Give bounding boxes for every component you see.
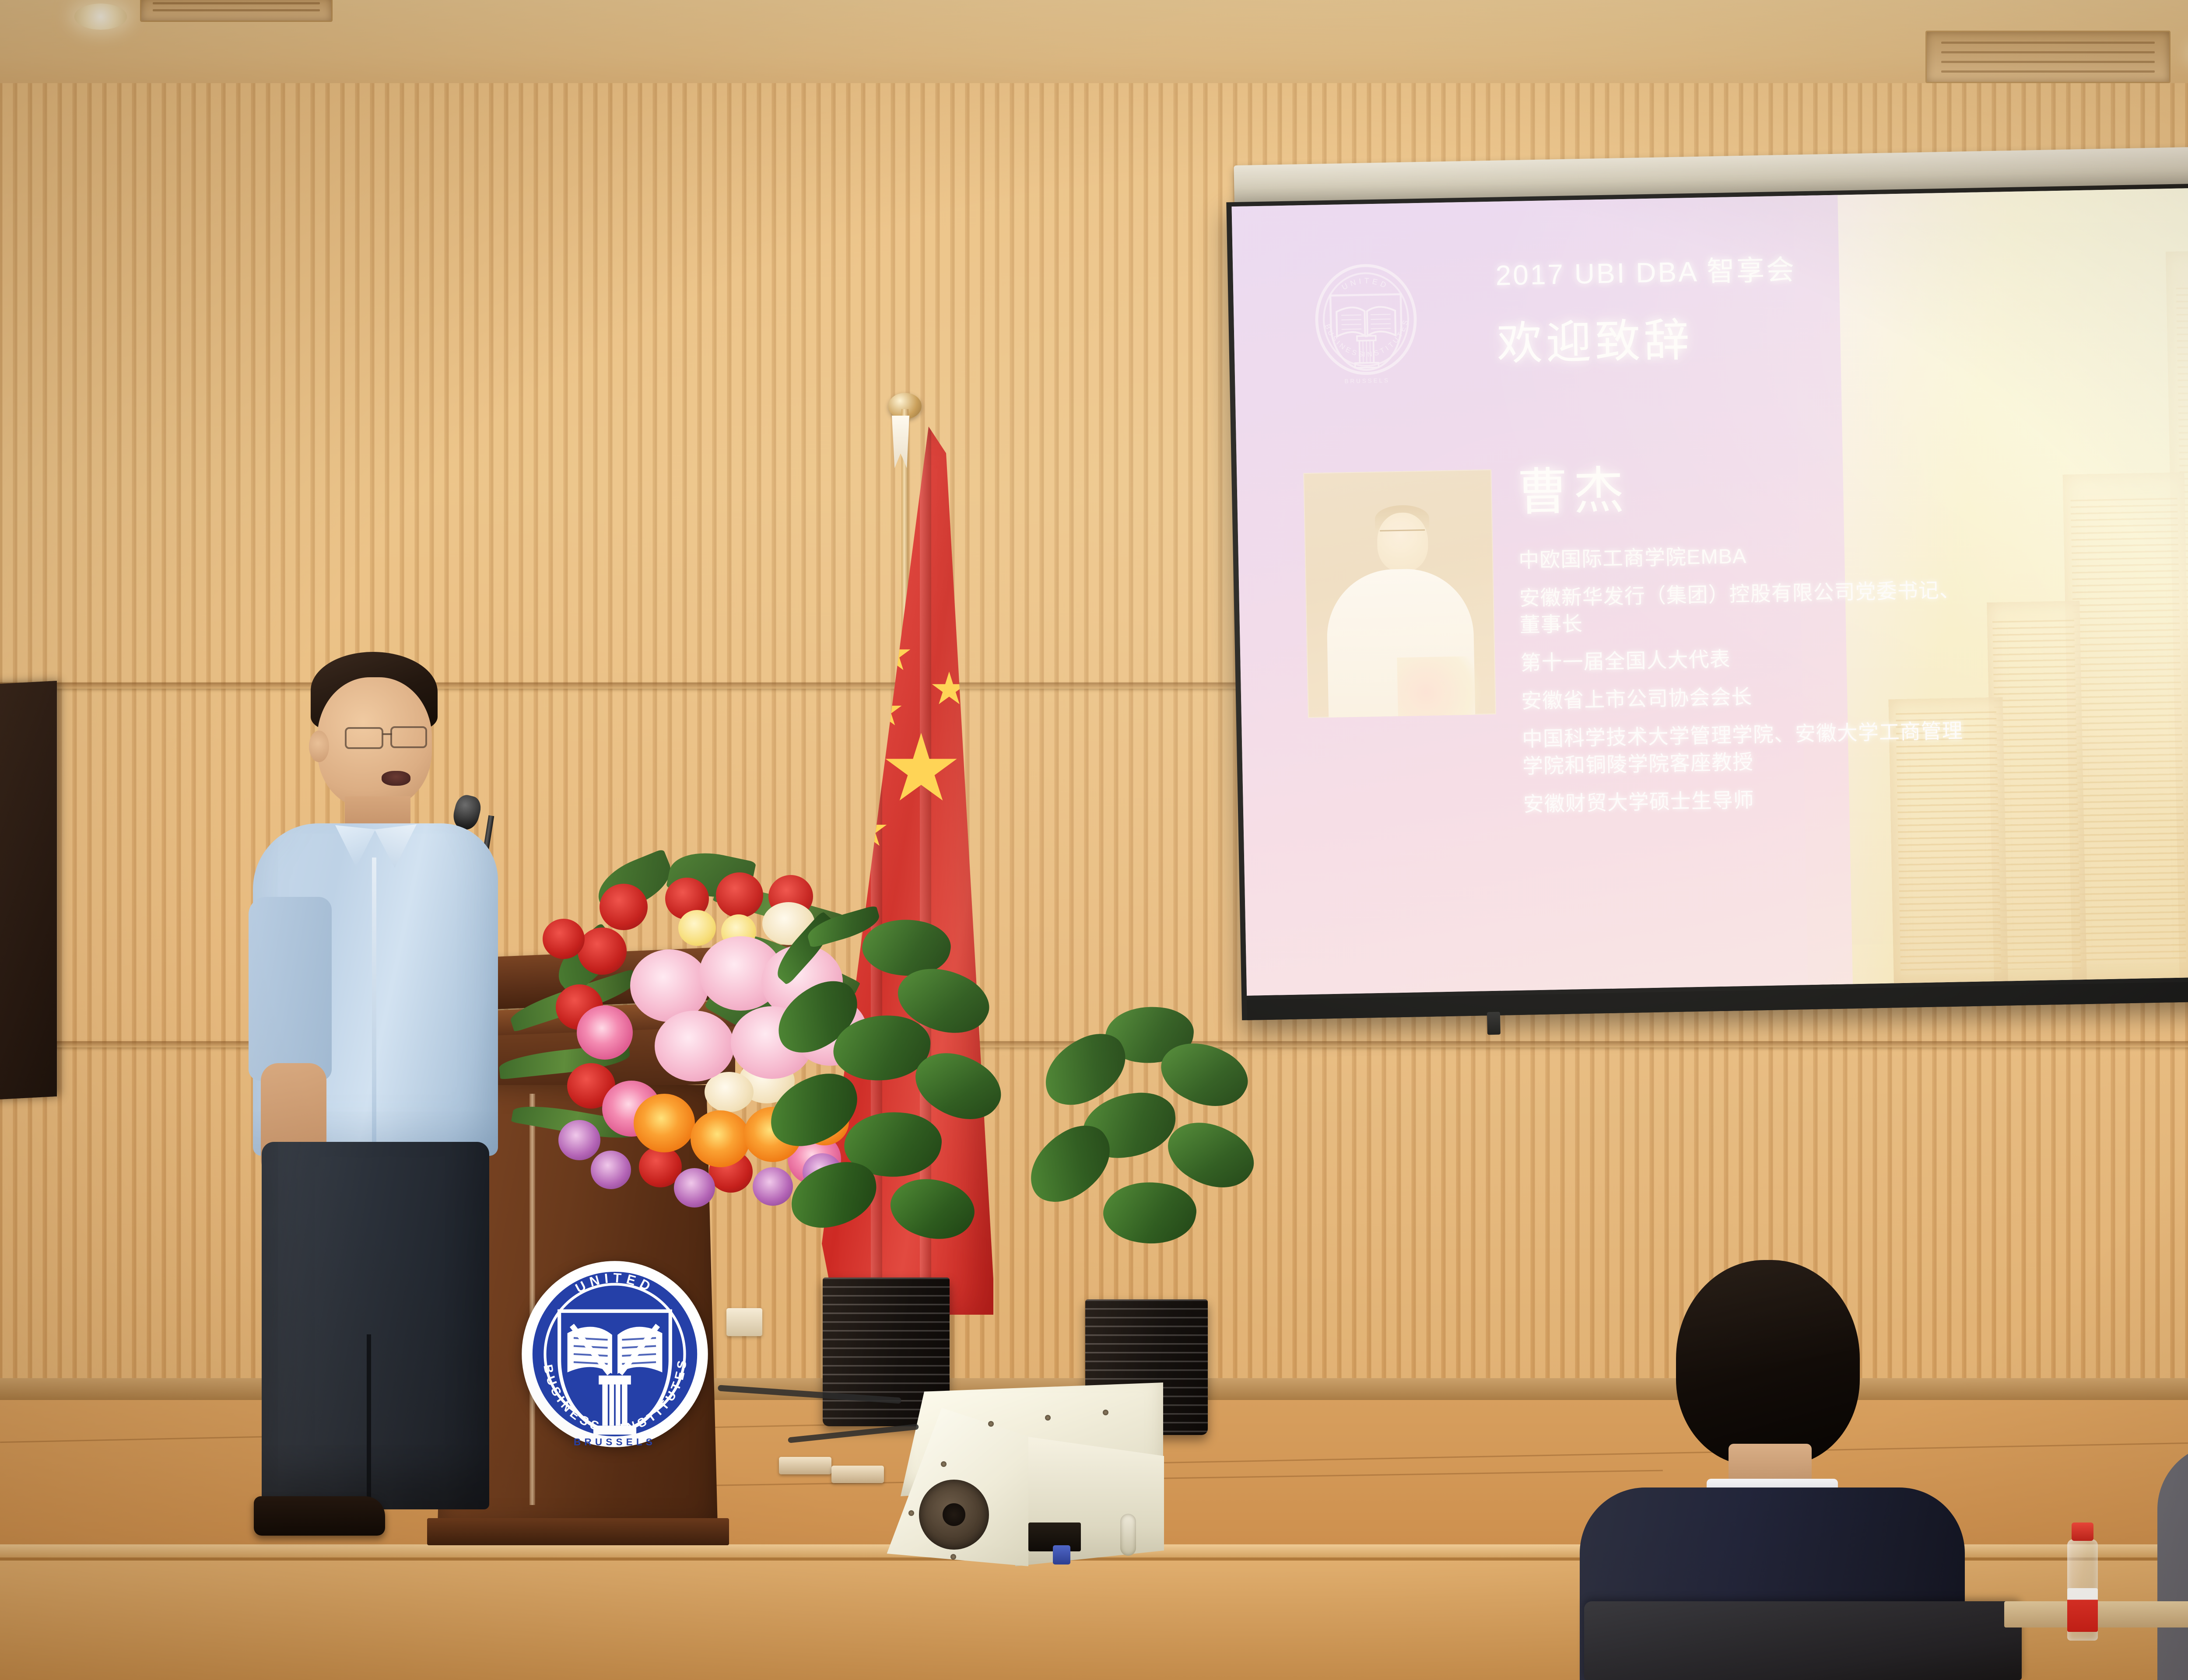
glasses-icon: [345, 727, 383, 749]
speaker-person: [228, 652, 560, 1562]
shirt-placket: [372, 857, 376, 1146]
ceiling-light-left: [74, 3, 127, 30]
bio-line: 中国科学技术大学管理学院、安徽大学工商管理学院和铜陵学院客座教授: [1522, 717, 1969, 780]
ceiling-vent-left: [140, 0, 333, 22]
flower-gerbera-pink: [577, 1005, 633, 1060]
flower-orchid: [558, 1120, 600, 1160]
bio-line: 中欧国际工商学院EMBA: [1518, 538, 1965, 574]
svg-text:BRUSSELS: BRUSSELS: [574, 1437, 656, 1448]
flower-orchid: [591, 1151, 631, 1189]
potted-plant-left: [770, 919, 1006, 1426]
glasses-icon: [390, 726, 427, 748]
wall-dark-panel: [0, 681, 57, 1100]
floor-socket: [779, 1457, 831, 1474]
screen-surface: UNITED BUSINESS INSTITUTES BRUSSELS: [1232, 182, 2188, 996]
ubi-logo-icon: UNITED BUSINESS INSTITUTES BRUSSELS: [1306, 256, 1426, 390]
floor-socket: [831, 1466, 884, 1483]
speaker-mouth: [382, 771, 410, 786]
speaker-shoe: [254, 1496, 385, 1536]
slide-kicker: 2017 UBI DBA 智享会: [1495, 244, 1986, 293]
slide-heading-group: 2017 UBI DBA 智享会 欢迎致辞: [1495, 244, 1988, 372]
audience-chair-left: [1584, 1601, 2022, 1680]
slide-bio-list: 中欧国际工商学院EMBA 安徽新华发行（集团）控股有限公司党委书记、董事长 第十…: [1518, 538, 1970, 829]
monitor-handle[interactable]: [1120, 1514, 1136, 1556]
bio-line: 第十一届全国人大代表: [1520, 641, 1967, 676]
flower-gerbera-orange: [691, 1110, 750, 1167]
slide-content: UNITED BUSINESS INSTITUTES BRUSSELS: [1232, 182, 2188, 996]
flower-gerbera-orange: [634, 1094, 695, 1152]
svg-text:BRUSSELS: BRUSSELS: [1344, 377, 1390, 385]
slide-title: 欢迎致辞: [1496, 297, 1988, 372]
slide-speaker-name: 曹杰: [1516, 449, 1630, 525]
ceiling-vent-right: [1925, 31, 2170, 83]
water-bottle[interactable]: [2065, 1522, 2100, 1641]
bio-line: 安徽新华发行（集团）控股有限公司党委书记、董事长: [1519, 576, 1966, 638]
flower-orchid: [674, 1168, 715, 1207]
flower-rose: [600, 884, 648, 930]
monitor-driver-icon: [919, 1480, 989, 1550]
bio-line: 安徽财贸大学硕士生导师: [1523, 782, 1970, 818]
speaker-ear: [309, 731, 329, 762]
shirt-sleeve: [249, 897, 332, 1081]
wall-outlet: [726, 1308, 762, 1336]
bio-line: 安徽省上市公司协会会长: [1521, 679, 1968, 714]
glasses-bridge: [382, 733, 392, 735]
potted-plant-right: [1037, 1011, 1256, 1435]
flower-rose: [716, 872, 763, 918]
bottle-cap: [2072, 1522, 2093, 1541]
monitor-cable-plug: [1053, 1545, 1070, 1564]
screen-weight-left: [1487, 1012, 1501, 1035]
flower-rose: [578, 927, 627, 975]
screen-frame: UNITED BUSINESS INSTITUTES BRUSSELS: [1226, 178, 2188, 1020]
flower-yellow: [678, 910, 716, 946]
bottle-label: [2067, 1588, 2098, 1632]
conference-hall-scene: Redleaf: [0, 0, 2188, 1680]
speaker-trousers: [262, 1142, 489, 1509]
speaker-portrait-photo: [1303, 469, 1496, 718]
flower-lily: [655, 1011, 734, 1081]
projection-screen: Redleaf: [1234, 153, 2188, 1046]
flower-rose: [543, 919, 585, 959]
trouser-leg-split: [367, 1334, 371, 1509]
stage-monitor-speaker: [884, 1382, 1164, 1566]
